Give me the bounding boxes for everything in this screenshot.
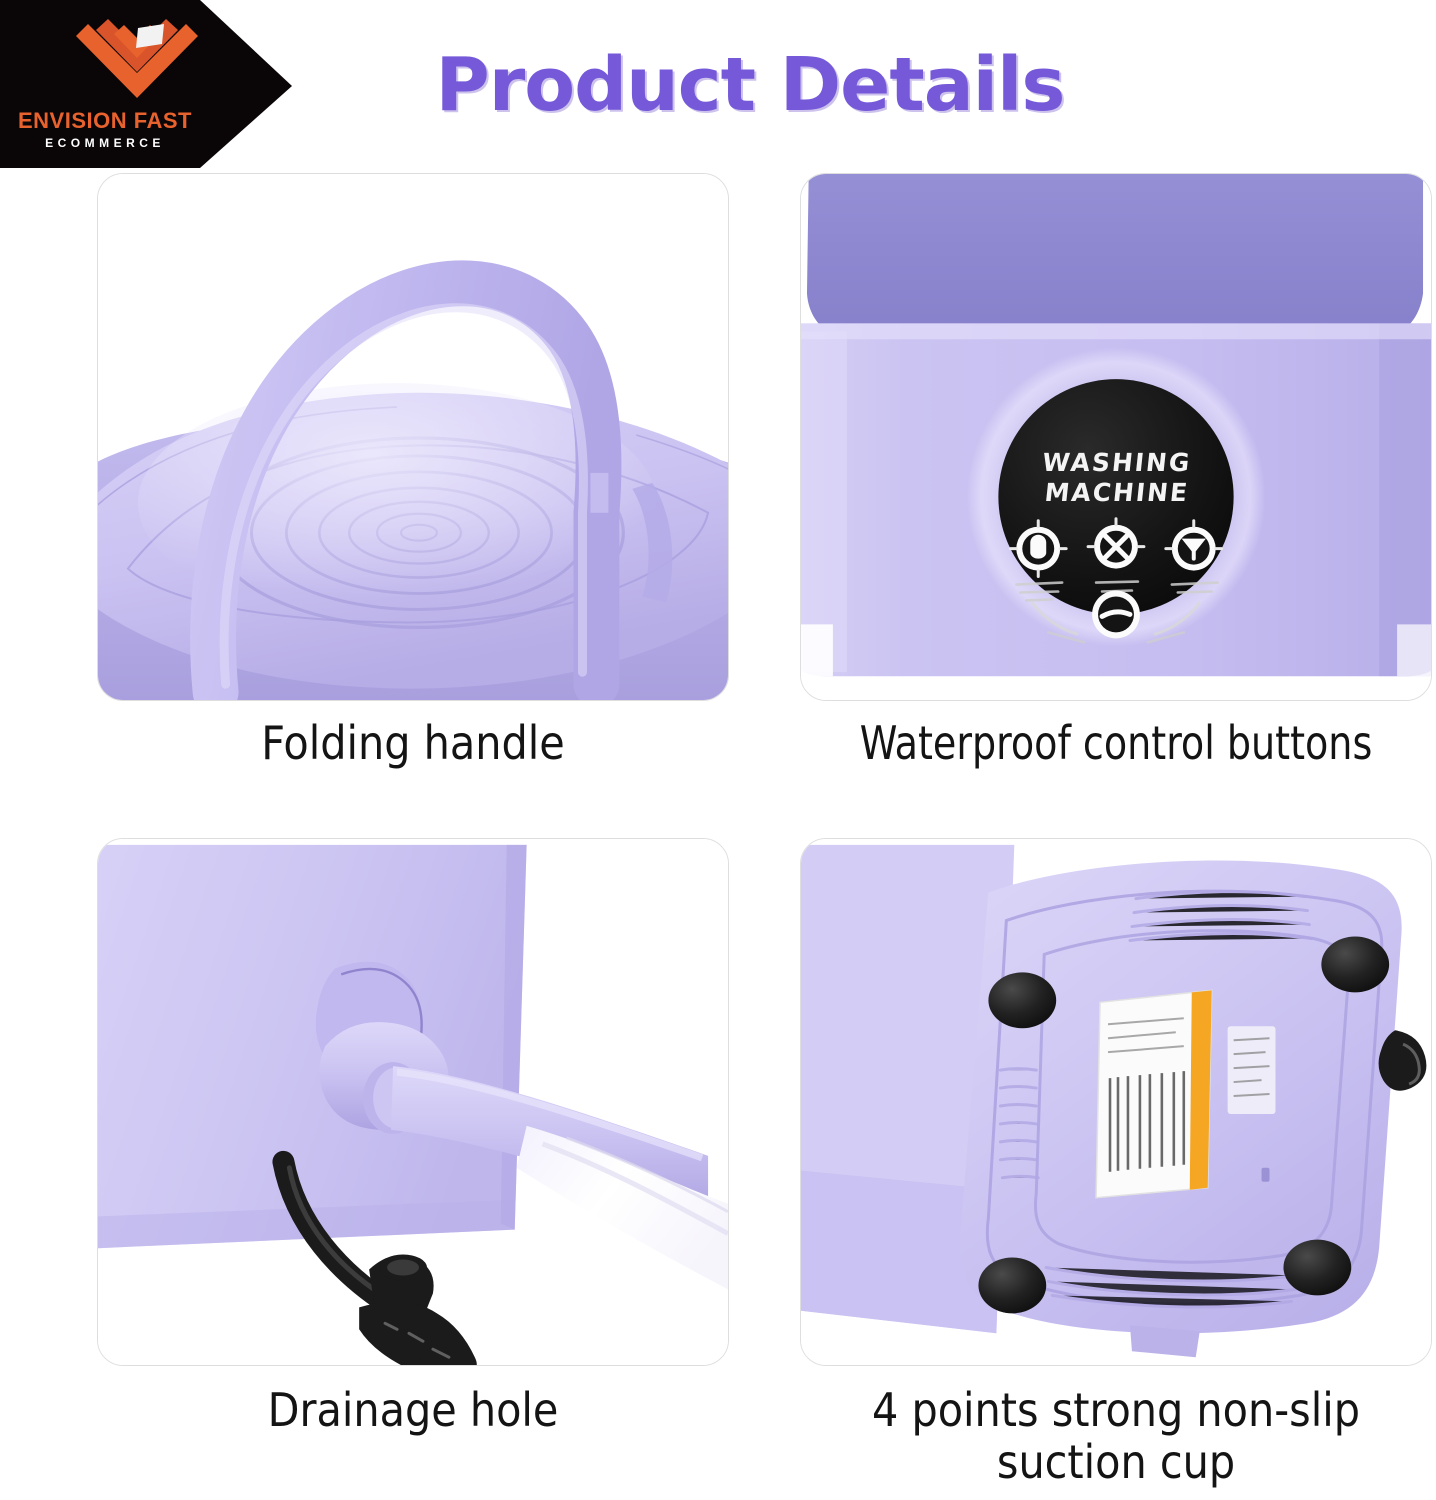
detail-card-drainage-hole	[97, 838, 729, 1366]
brand-name: ENVISION FAST	[0, 108, 210, 134]
caption-drainage-hole: Drainage hole	[97, 1385, 729, 1437]
detail-card-folding-handle	[97, 173, 729, 701]
detail-card-control-buttons: WASHING MACHINE	[800, 173, 1432, 701]
product-details-page: ENVISION FAST ECOMMERCE Product Details	[0, 0, 1436, 1500]
detail-card-suction-cup	[800, 838, 1432, 1366]
svg-text:MACHINE: MACHINE	[1043, 478, 1190, 507]
chevron-logo-icon	[72, 18, 202, 104]
brand-subtitle: ECOMMERCE	[0, 136, 210, 150]
page-header: ENVISION FAST ECOMMERCE Product Details	[0, 0, 1436, 172]
page-title: Product Details	[300, 42, 1200, 128]
svg-text:WASHING: WASHING	[1041, 448, 1193, 477]
brand-banner: ENVISION FAST ECOMMERCE	[0, 0, 292, 170]
caption-control-buttons: Waterproof control buttons	[818, 718, 1414, 770]
product-photo-control-buttons: WASHING MACHINE	[801, 174, 1431, 700]
caption-suction-cup: 4 points strong non-slip suction cup	[800, 1385, 1432, 1488]
product-photo-suction-cup	[801, 839, 1431, 1365]
caption-folding-handle: Folding handle	[97, 718, 729, 770]
product-photo-folding-handle	[98, 174, 728, 700]
product-photo-drainage-hole	[98, 839, 728, 1365]
